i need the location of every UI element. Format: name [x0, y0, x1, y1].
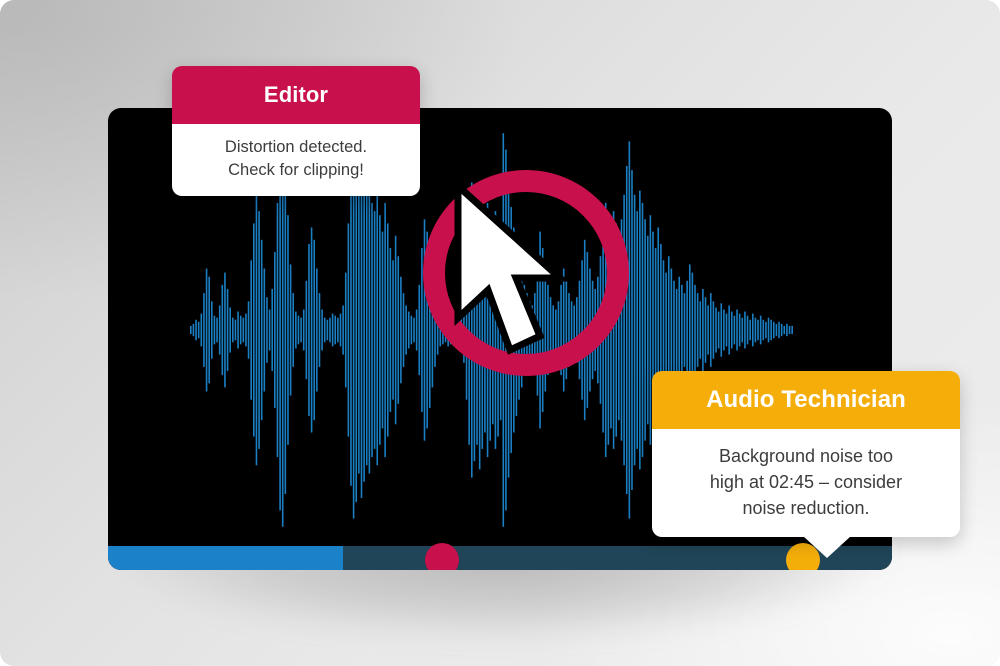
callout-editor-role-label: Editor — [172, 66, 420, 124]
callout-audio-technician[interactable]: Audio Technician Background noise too hi… — [652, 371, 960, 537]
callout-audio-technician-message-line-1: Background noise too — [668, 443, 944, 469]
timeline-progress-fill — [108, 546, 343, 570]
callout-audio-technician-message-line-3: noise reduction. — [668, 495, 944, 521]
callout-pointer-tail-icon — [803, 536, 851, 558]
callout-editor-message: Distortion detected. Check for clipping! — [172, 124, 420, 196]
callout-editor-message-line-1: Distortion detected. — [186, 136, 406, 159]
callout-audio-technician-message: Background noise too high at 02:45 – con… — [652, 429, 960, 537]
callout-audio-technician-role-label: Audio Technician — [652, 371, 960, 429]
callout-editor[interactable]: Editor Distortion detected. Check for cl… — [172, 66, 420, 196]
callout-editor-message-line-2: Check for clipping! — [186, 159, 406, 182]
timeline-marker-editor[interactable] — [425, 543, 459, 570]
screenshot-stage: Editor Distortion detected. Check for cl… — [0, 0, 1000, 666]
playback-timeline[interactable] — [108, 538, 892, 570]
callout-audio-technician-message-line-2: high at 02:45 – consider — [668, 469, 944, 495]
